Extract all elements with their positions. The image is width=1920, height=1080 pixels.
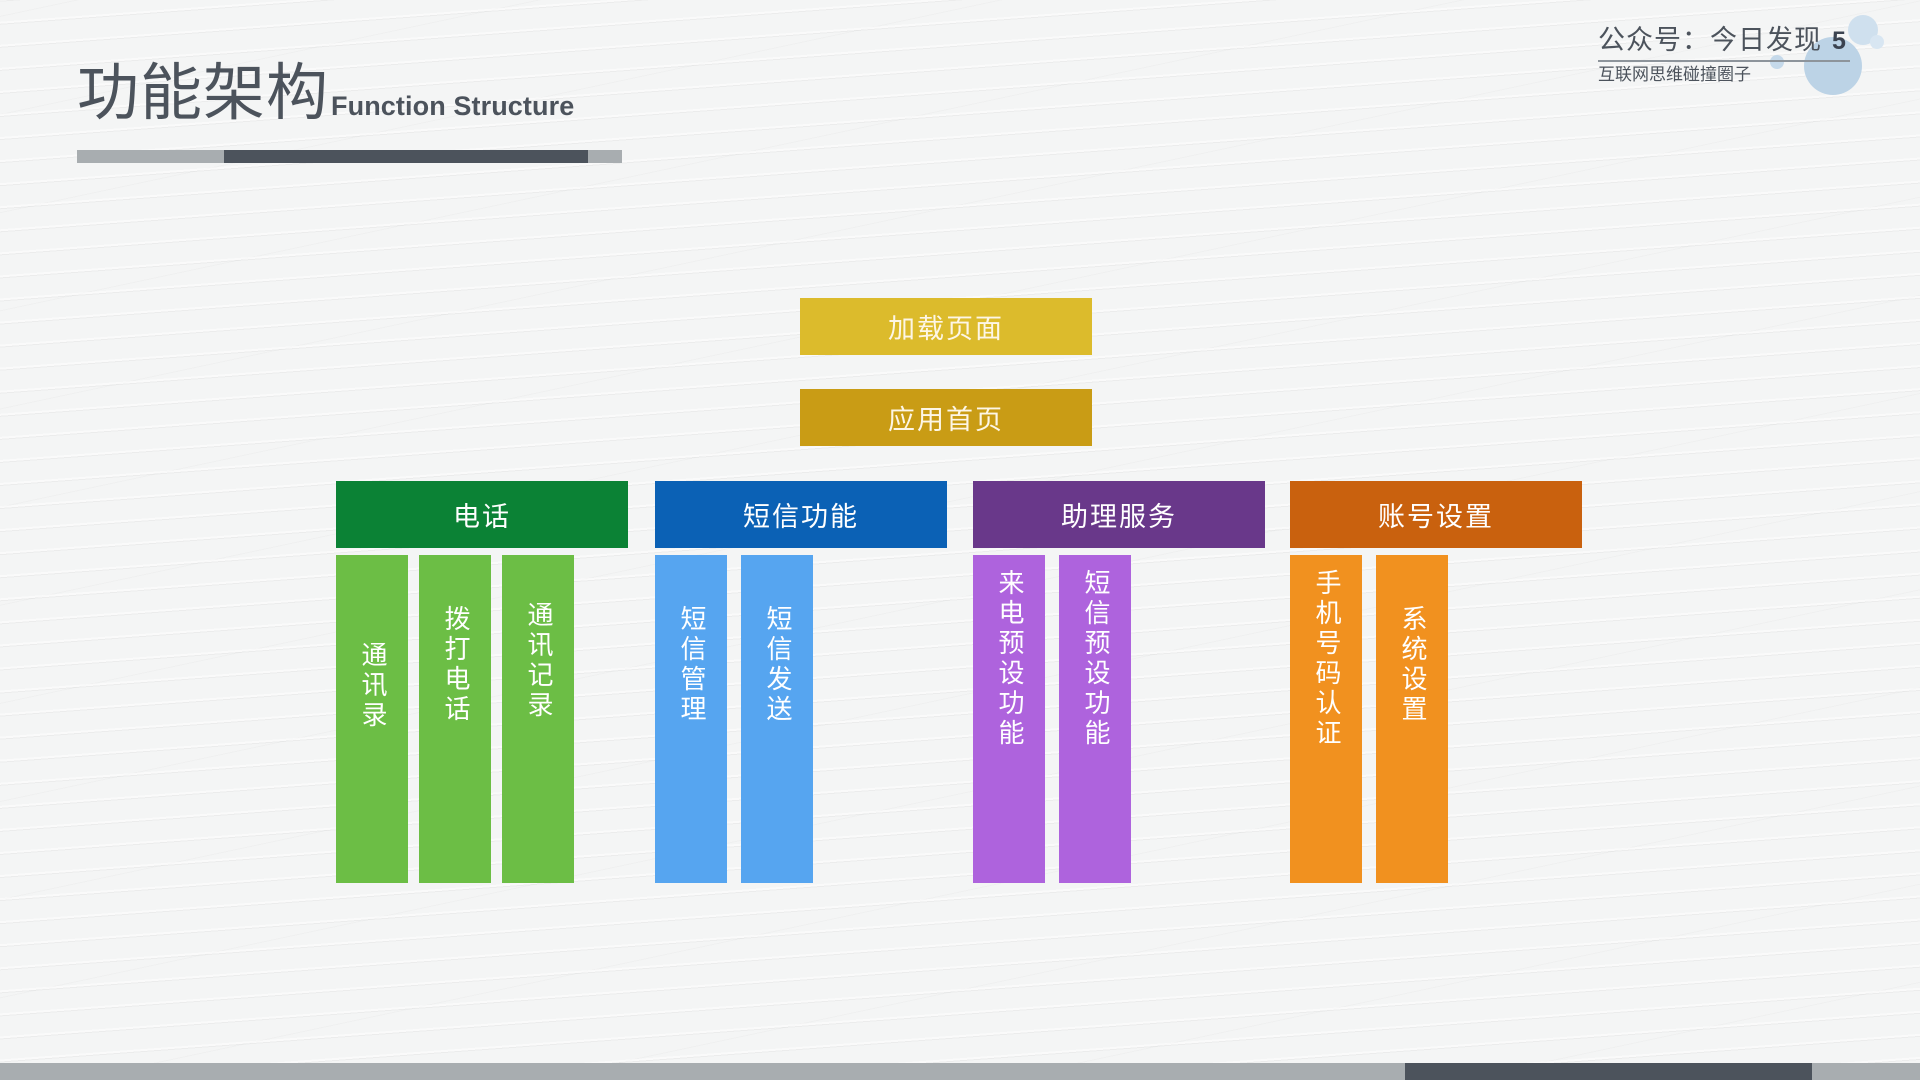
group-child-label: 拨打电话 bbox=[442, 605, 468, 725]
group-child-account-2[interactable]: 系统设置 bbox=[1376, 555, 1448, 883]
brand-header-row: 公众号：今日发现 5 bbox=[1598, 27, 1850, 54]
group-children-phone: 通讯录拨打电话通讯记录 bbox=[336, 555, 628, 885]
bottom-accent-bar bbox=[0, 1063, 1920, 1080]
brand-title: 公众号：今日发现 bbox=[1598, 27, 1822, 54]
page-number: 5 bbox=[1832, 29, 1846, 54]
page-title-block: 功能架构 Function Structure bbox=[77, 62, 574, 124]
group-child-assistant-1[interactable]: 来电预设功能 bbox=[973, 555, 1045, 883]
group-child-phone-1[interactable]: 通讯录 bbox=[336, 555, 408, 883]
group-child-sms-2[interactable]: 短信发送 bbox=[741, 555, 813, 883]
title-rule-segment-dark bbox=[224, 150, 588, 163]
group-child-label: 短信预设功能 bbox=[1082, 569, 1108, 749]
group-child-label: 通讯记录 bbox=[525, 601, 551, 721]
page-title-en: Function Structure bbox=[331, 91, 574, 124]
group-child-label: 短信发送 bbox=[764, 605, 790, 725]
node-app-home[interactable]: 应用首页 bbox=[800, 389, 1092, 446]
group-children-sms: 短信管理短信发送 bbox=[655, 555, 947, 885]
group-header-account[interactable]: 账号设置 bbox=[1290, 481, 1582, 548]
group-child-phone-3[interactable]: 通讯记录 bbox=[502, 555, 574, 883]
group-child-phone-2[interactable]: 拨打电话 bbox=[419, 555, 491, 883]
title-rule-segment-light-left bbox=[77, 150, 224, 163]
group-child-account-1[interactable]: 手机号码认证 bbox=[1290, 555, 1362, 883]
group-child-label: 手机号码认证 bbox=[1313, 569, 1339, 749]
group-children-account: 手机号码认证系统设置 bbox=[1290, 555, 1582, 885]
group-children-assistant: 来电预设功能短信预设功能 bbox=[973, 555, 1265, 885]
page-title-cn: 功能架构 bbox=[77, 62, 329, 124]
bottom-accent-bar-dark-segment bbox=[1405, 1063, 1812, 1080]
title-underline-rule bbox=[77, 150, 622, 163]
group-header-assistant[interactable]: 助理服务 bbox=[973, 481, 1265, 548]
group-header-phone[interactable]: 电话 bbox=[336, 481, 628, 548]
brand-divider bbox=[1598, 60, 1850, 62]
page-title: 功能架构 Function Structure bbox=[77, 62, 574, 124]
function-group-phone: 电话通讯录拨打电话通讯记录 bbox=[336, 481, 628, 885]
title-rule-segment-light-right bbox=[588, 150, 622, 163]
circle-small-right bbox=[1870, 35, 1884, 49]
group-child-label: 短信管理 bbox=[678, 605, 704, 725]
group-child-label: 通讯录 bbox=[359, 641, 385, 731]
function-group-sms: 短信功能短信管理短信发送 bbox=[655, 481, 947, 885]
group-child-label: 系统设置 bbox=[1399, 605, 1425, 725]
function-group-account: 账号设置手机号码认证系统设置 bbox=[1290, 481, 1582, 885]
node-load-page[interactable]: 加载页面 bbox=[800, 298, 1092, 355]
slide-canvas: 功能架构 Function Structure 公众号：今日发现 5 互联网思维… bbox=[0, 0, 1920, 1080]
function-group-assistant: 助理服务来电预设功能短信预设功能 bbox=[973, 481, 1265, 885]
group-header-sms[interactable]: 短信功能 bbox=[655, 481, 947, 548]
brand-subtitle: 互联网思维碰撞圈子 bbox=[1598, 67, 1850, 84]
group-child-assistant-2[interactable]: 短信预设功能 bbox=[1059, 555, 1131, 883]
group-child-label: 来电预设功能 bbox=[996, 569, 1022, 749]
group-child-sms-1[interactable]: 短信管理 bbox=[655, 555, 727, 883]
brand-block: 公众号：今日发现 5 互联网思维碰撞圈子 bbox=[1598, 27, 1850, 84]
